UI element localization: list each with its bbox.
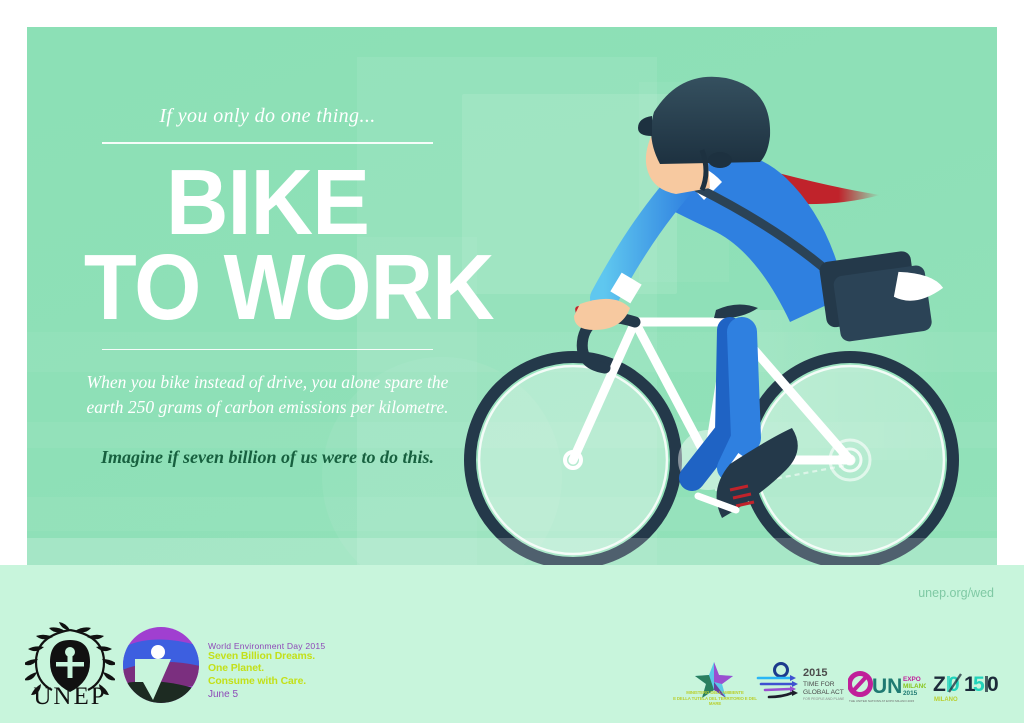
ministero-ambiente-caption: MINISTERO DELL'AMBIENTE E DELLA TUTELA D… (672, 690, 758, 707)
un-expo-milano-logo-icon: UN EXPO MILANO 2015 THE UNITED NATIONS A… (848, 668, 926, 704)
shirt-cuff (616, 282, 636, 294)
wed-text-block: World Environment Day 2015 Seven Billion… (208, 641, 368, 701)
svg-text:EXPO: EXPO (903, 676, 921, 683)
page-title: BIKE TO WORK (84, 160, 451, 331)
un-mark: UN (872, 675, 902, 698)
zero-caption: MILANO (934, 697, 958, 703)
wed-tagline-1: Seven Billion Dreams. (208, 651, 368, 663)
wed-tagline-3: Consume with Care. (208, 676, 368, 688)
svg-text:TIME FOR: TIME FOR (803, 681, 835, 688)
footer-band-highlight (27, 538, 997, 565)
tfga-year: 2015 (803, 667, 827, 679)
world-environment-day-logo-icon (122, 626, 200, 704)
svg-text:THE UNITED NATIONS AT EXPO MIL: THE UNITED NATIONS AT EXPO MILANO 2015 (849, 699, 915, 703)
cyclist-illustration (430, 60, 990, 580)
svg-text:5: 5 (973, 673, 985, 696)
divider-top (102, 142, 433, 144)
poster-text-column: If you only do one thing... BIKE TO WORK… (70, 105, 465, 486)
svg-text:0: 0 (987, 673, 999, 696)
wed-date: June 5 (208, 689, 368, 701)
svg-text:2015: 2015 (903, 690, 918, 697)
wed-title: World Environment Day 2015 (208, 641, 368, 651)
svg-text:MILANO: MILANO (903, 683, 926, 690)
divider-bottom (102, 349, 433, 351)
svg-text:Z: Z (933, 673, 946, 696)
svg-text:GLOBAL ACTION: GLOBAL ACTION (803, 689, 844, 696)
body-line-2: 250 grams of carbon emissions per kilome… (128, 397, 449, 417)
zero-hunger-logo-icon: Z 0 1 5 0 MILANO (933, 672, 1005, 704)
poster-root: If you only do one thing... BIKE TO WORK… (0, 0, 1024, 723)
website-url[interactable]: unep.org/wed (918, 586, 994, 600)
eyebrow-text: If you only do one thing... (70, 105, 465, 128)
wed-tagline-2: One Planet. (208, 663, 368, 675)
ministero-caption-line-2: E DELLA TUTELA DEL TERRITORIO E DEL MARE (672, 696, 758, 707)
unep-wordmark: UNEP (22, 683, 118, 711)
body-copy: When you bike instead of drive, you alon… (76, 370, 459, 421)
svg-text:FOR PEOPLE AND PLANET: FOR PEOPLE AND PLANET (803, 697, 844, 701)
emphasis-copy: Imagine if seven billion of us were to d… (70, 447, 465, 468)
rider-hand (574, 299, 630, 330)
time-for-global-action-logo-icon: 2015 TIME FOR GLOBAL ACTION FOR PEOPLE A… (756, 661, 844, 703)
headline-line-2: TO WORK (84, 245, 451, 331)
